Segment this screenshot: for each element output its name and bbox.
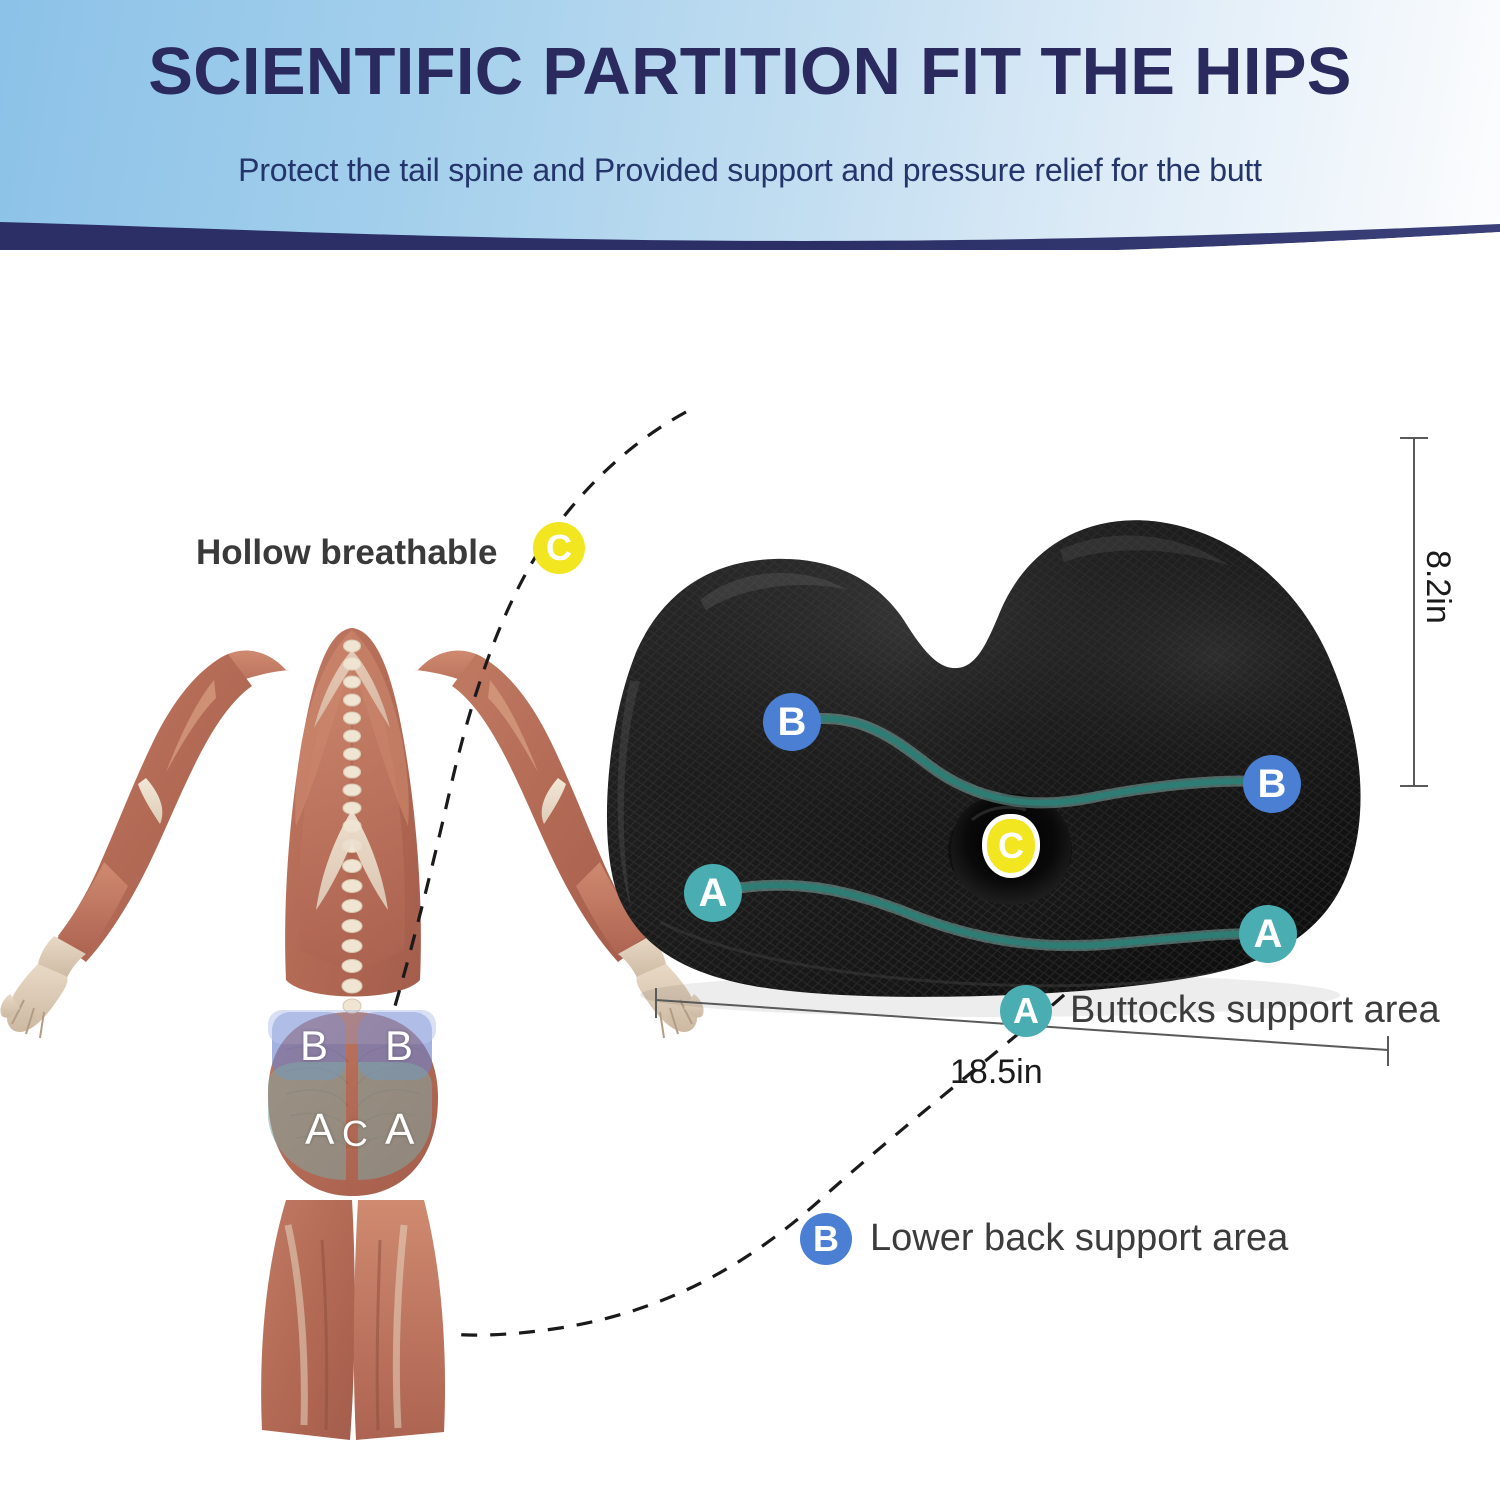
legend-label-b: Lower back support area bbox=[870, 1219, 1288, 1257]
hollow-breathable-label: Hollow breathable bbox=[196, 535, 497, 570]
cushion-badge-a-left[interactable]: A bbox=[684, 864, 742, 922]
dimension-width-label: 18.5in bbox=[950, 1055, 1043, 1089]
main-content: B B A C A B B A A C 18.5in 8.2in Hollow … bbox=[0, 250, 1500, 1500]
dimension-height-label: 8.2in bbox=[1421, 550, 1455, 624]
cushion-badge-c-hole[interactable]: C bbox=[987, 819, 1035, 873]
cushion-badge-a-right[interactable]: A bbox=[1239, 905, 1297, 963]
anatomy-letter-c-center: C bbox=[342, 1116, 368, 1152]
cushion-badge-b-right[interactable]: B bbox=[1243, 755, 1301, 813]
infographic-page: SCIENTIFIC PARTITION FIT THE HIPS Protec… bbox=[0, 0, 1500, 1500]
anatomy-letter-a-right: A bbox=[385, 1108, 414, 1152]
hollow-breathable-badge-c: C bbox=[533, 522, 585, 574]
page-title: SCIENTIFIC PARTITION FIT THE HIPS bbox=[0, 38, 1500, 105]
legend-label-a: Buttocks support area bbox=[1070, 991, 1440, 1029]
page-subtitle: Protect the tail spine and Provided supp… bbox=[0, 152, 1500, 189]
anatomy-letter-b-left: B bbox=[300, 1025, 328, 1067]
legend-badge-b: B bbox=[800, 1213, 852, 1265]
anatomy-letter-a-left: A bbox=[305, 1108, 334, 1152]
header-banner: SCIENTIFIC PARTITION FIT THE HIPS Protec… bbox=[0, 0, 1500, 250]
illustration-layer bbox=[0, 250, 1500, 1500]
anatomy-letter-b-right: B bbox=[385, 1025, 413, 1067]
anatomy-figure bbox=[0, 628, 703, 1440]
legend-badge-a: A bbox=[1000, 985, 1052, 1037]
cushion-badge-b-left[interactable]: B bbox=[763, 693, 821, 751]
